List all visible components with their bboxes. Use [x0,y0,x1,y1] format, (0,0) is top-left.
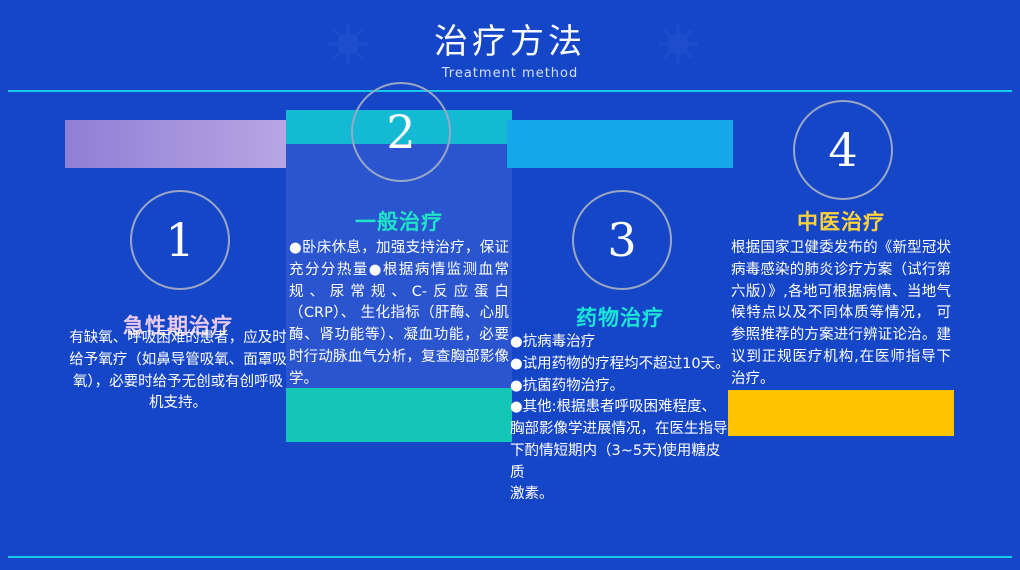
slide-canvas: 治疗方法 Treatment method 1 急性期治疗 有缺氧、呼吸困难的患… [0,0,1020,570]
divider-bottom [8,556,1012,558]
column-3-text: ●抗病毒治疗 ●试用药物的疗程均不超过10天。 ●抗菌药物治疗。 ●其他:根据患… [510,332,730,506]
column-3-header-bar [507,120,733,168]
column-4-title: 中医治疗 [728,206,954,236]
column-2-bottom-bar [286,388,512,442]
divider-top [8,90,1012,92]
column-1-header-bar [65,120,291,168]
column-4-bottom-bar [728,390,954,436]
column-1-number: 1 [130,190,230,290]
column-4-text: 根据国家卫健委发布的《新型冠状病毒感染的肺炎诊疗方案（试行第六版）》,各地可根据… [731,238,951,390]
column-2-number: 2 [351,82,451,182]
column-2-title: 一般治疗 [286,206,512,236]
column-2-text: ●卧床休息，加强支持治疗，保证充分分热量●根据病情监测血常规、尿常规、C-反应蛋… [289,238,509,390]
column-3-number: 3 [572,190,672,290]
page-title: 治疗方法 [0,14,1020,63]
page-subtitle: Treatment method [0,66,1020,81]
column-1-text: 有缺氧、呼吸困难的患者，应及时给予氧疗（如鼻导管吸氧、面罩吸氧），必要时给予无创… [68,328,288,415]
column-4-number: 4 [793,100,893,200]
column-3-title: 药物治疗 [507,302,733,332]
